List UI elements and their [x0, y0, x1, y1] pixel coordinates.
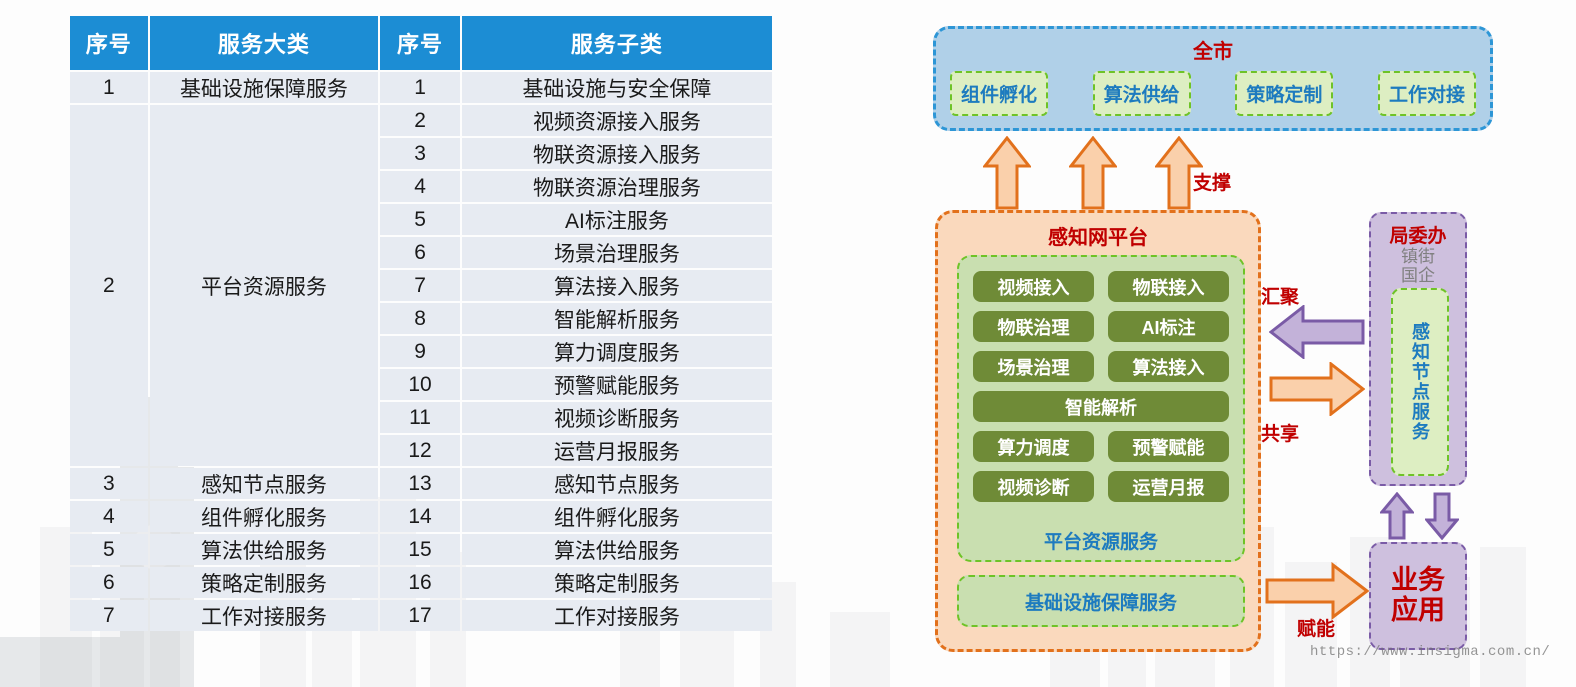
sub-no: 9	[380, 336, 460, 367]
sub-no: 7	[380, 270, 460, 301]
sub-name: 基础设施与安全保障	[462, 72, 772, 103]
table-row: 1 基础设施保障服务 1 基础设施与安全保障	[70, 72, 772, 103]
sub-name: 视频诊断服务	[462, 402, 772, 433]
arrow-right-icon	[1265, 562, 1369, 620]
city-chip-policy-customization: 策略定制	[1235, 71, 1333, 116]
sub-no: 15	[380, 534, 460, 565]
table-row: 2 平台资源服务 2 视频资源接入服务	[70, 105, 772, 136]
major-name: 感知节点服务	[150, 468, 379, 499]
chip-intelligent-analysis: 智能解析	[973, 391, 1229, 422]
business-label-line1: 业务	[1391, 566, 1445, 596]
sub-name: 算法供给服务	[462, 534, 772, 565]
arrow-up-icon	[983, 136, 1031, 210]
city-scope-box: 全市 组件孵化 算法供给 策略定制 工作对接	[933, 26, 1493, 131]
sub-no: 16	[380, 567, 460, 598]
sub-name: 场景治理服务	[462, 237, 772, 268]
arrow-right-icon	[1269, 362, 1365, 416]
sub-no: 14	[380, 501, 460, 532]
col-header-major-name: 服务大类	[150, 16, 379, 70]
support-arrow-label: 支撑	[1193, 168, 1231, 195]
sub-name: AI标注服务	[462, 204, 772, 235]
bureau-subtitle-town: 镇街	[1371, 248, 1465, 267]
major-no: 1	[70, 72, 148, 103]
chip-compute-scheduling: 算力调度	[973, 431, 1094, 462]
sub-name: 策略定制服务	[462, 567, 772, 598]
sub-name: 物联资源接入服务	[462, 138, 772, 169]
aggregate-arrow-label: 汇聚	[1261, 282, 1299, 309]
table-row: 7 工作对接服务 17 工作对接服务	[70, 600, 772, 631]
arrow-up-icon	[1069, 136, 1117, 210]
sub-no: 5	[380, 204, 460, 235]
major-no: 3	[70, 468, 148, 499]
architecture-diagram: 全市 组件孵化 算法供给 策略定制 工作对接 支撑 感知网平台	[925, 0, 1576, 687]
major-no: 5	[70, 534, 148, 565]
arrow-down-icon	[1425, 492, 1459, 540]
chip-scene-governance: 场景治理	[973, 351, 1094, 382]
table-row: 6 策略定制服务 16 策略定制服务	[70, 567, 772, 598]
sub-no: 12	[380, 435, 460, 466]
chip-iot-governance: 物联治理	[973, 311, 1094, 342]
col-header-major-no: 序号	[70, 16, 148, 70]
chip-video-diagnosis: 视频诊断	[973, 471, 1094, 502]
sub-name: 运营月报服务	[462, 435, 772, 466]
chip-ai-annotation: AI标注	[1108, 311, 1229, 342]
major-name: 组件孵化服务	[150, 501, 379, 532]
platform-resource-service-label: 平台资源服务	[959, 527, 1243, 554]
platform-resource-service-box: 视频接入 物联接入 物联治理 AI标注 场景治理 算法接入 智能解析 算力调度 …	[957, 255, 1245, 562]
perception-node-service-box: 感知节点服务	[1391, 288, 1449, 476]
sub-name: 算法接入服务	[462, 270, 772, 301]
major-name: 工作对接服务	[150, 600, 379, 631]
arrow-up-icon	[1380, 492, 1414, 540]
major-name: 策略定制服务	[150, 567, 379, 598]
sub-name: 组件孵化服务	[462, 501, 772, 532]
business-label-line2: 应用	[1391, 596, 1445, 626]
platform-capability-chips: 视频接入 物联接入 物联治理 AI标注 场景治理 算法接入 智能解析 算力调度 …	[973, 271, 1229, 502]
table-row: 4 组件孵化服务 14 组件孵化服务	[70, 501, 772, 532]
perception-platform-title: 感知网平台	[938, 221, 1258, 250]
bureau-subtitle-soe: 国企	[1371, 267, 1465, 286]
major-no: 4	[70, 501, 148, 532]
arrow-left-icon	[1269, 305, 1365, 359]
site-url-watermark: https://www.insigma.com.cn/	[1310, 644, 1550, 660]
col-header-sub-no: 序号	[380, 16, 460, 70]
sub-no: 10	[380, 369, 460, 400]
col-header-sub-name: 服务子类	[462, 16, 772, 70]
major-name: 算法供给服务	[150, 534, 379, 565]
major-no: 7	[70, 600, 148, 631]
sub-name: 算力调度服务	[462, 336, 772, 367]
service-catalog-table: 序号 服务大类 序号 服务子类 1 基础设施保障服务 1 基础设施与安全保障 2…	[68, 14, 774, 633]
city-chip-work-docking: 工作对接	[1378, 71, 1476, 116]
sub-name: 预警赋能服务	[462, 369, 772, 400]
share-arrow-label: 共享	[1261, 419, 1299, 446]
table-body: 1 基础设施保障服务 1 基础设施与安全保障 2 平台资源服务 2 视频资源接入…	[70, 72, 772, 631]
slide-canvas: 序号 服务大类 序号 服务子类 1 基础设施保障服务 1 基础设施与安全保障 2…	[0, 0, 1576, 687]
sub-name: 感知节点服务	[462, 468, 772, 499]
major-no: 2	[70, 105, 148, 466]
infrastructure-service-box: 基础设施保障服务	[957, 575, 1245, 627]
support-arrows-group	[983, 136, 1203, 210]
table-row: 5 算法供给服务 15 算法供给服务	[70, 534, 772, 565]
sub-no: 6	[380, 237, 460, 268]
table-row: 3 感知节点服务 13 感知节点服务	[70, 468, 772, 499]
chip-video-access: 视频接入	[973, 271, 1094, 302]
city-service-chips: 组件孵化 算法供给 策略定制 工作对接	[950, 71, 1476, 116]
perception-platform-box: 感知网平台 视频接入 物联接入 物联治理 AI标注 场景治理 算法接入 智能解析…	[935, 210, 1261, 652]
city-chip-algorithm-supply: 算法供给	[1093, 71, 1191, 116]
chip-monthly-report: 运营月报	[1108, 471, 1229, 502]
sub-name: 工作对接服务	[462, 600, 772, 631]
service-catalog-table-wrap: 序号 服务大类 序号 服务子类 1 基础设施保障服务 1 基础设施与安全保障 2…	[68, 14, 774, 633]
sub-name: 视频资源接入服务	[462, 105, 772, 136]
sub-no: 2	[380, 105, 460, 136]
bureau-box: 局委办 镇街 国企 感知节点服务	[1369, 212, 1467, 486]
sub-no: 13	[380, 468, 460, 499]
major-no: 6	[70, 567, 148, 598]
major-name: 平台资源服务	[150, 105, 379, 466]
sub-no: 11	[380, 402, 460, 433]
sub-no: 1	[380, 72, 460, 103]
city-chip-component-incubation: 组件孵化	[950, 71, 1048, 116]
chip-algorithm-access: 算法接入	[1108, 351, 1229, 382]
table-header-row: 序号 服务大类 序号 服务子类	[70, 16, 772, 70]
sub-no: 8	[380, 303, 460, 334]
business-application-box: 业务 应用	[1369, 542, 1467, 650]
chip-alert-empowerment: 预警赋能	[1108, 431, 1229, 462]
sub-no: 17	[380, 600, 460, 631]
bureau-title: 局委办	[1371, 221, 1465, 248]
sub-name: 物联资源治理服务	[462, 171, 772, 202]
sub-no: 4	[380, 171, 460, 202]
empower-arrow-label: 赋能	[1297, 614, 1335, 641]
major-name: 基础设施保障服务	[150, 72, 379, 103]
city-scope-title: 全市	[936, 35, 1490, 64]
chip-iot-access: 物联接入	[1108, 271, 1229, 302]
sub-no: 3	[380, 138, 460, 169]
sub-name: 智能解析服务	[462, 303, 772, 334]
